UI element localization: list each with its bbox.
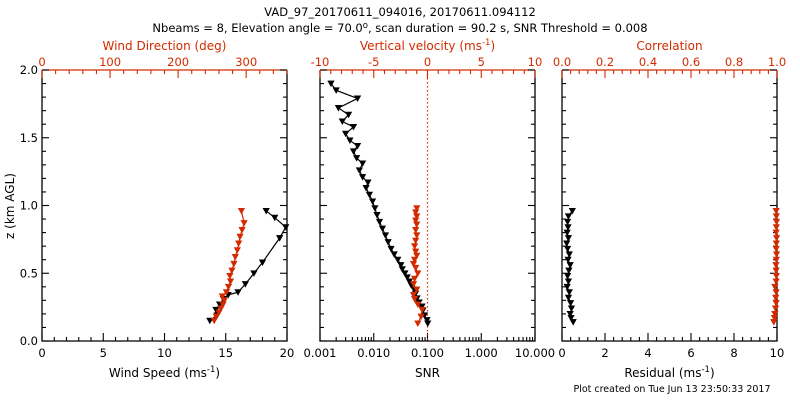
data-point-marker <box>343 131 349 137</box>
top-tick-label: 300 <box>235 55 257 69</box>
plot-timestamp-footer: Plot created on Tue Jun 13 23:50:33 2017 <box>573 384 770 395</box>
top-tick-label: 0.8 <box>725 55 743 69</box>
data-point-marker <box>232 254 238 260</box>
data-point-marker <box>567 262 573 268</box>
data-point-marker <box>354 96 360 102</box>
data-point-marker <box>363 185 369 191</box>
top-tick-label: 0.2 <box>596 55 614 69</box>
bottom-tick-label: 4 <box>644 346 651 360</box>
data-point-marker <box>418 314 424 320</box>
data-point-marker <box>241 220 247 226</box>
top-tick-label: 10 <box>528 55 543 69</box>
top-tick-label: 0 <box>38 55 45 69</box>
bottom-tick-label: 10.000 <box>515 346 555 360</box>
y-tick-label: 1.0 <box>20 199 38 213</box>
data-point-marker <box>237 234 243 240</box>
data-point-marker <box>565 225 571 231</box>
data-point-marker <box>366 192 372 198</box>
series-vertical-velocity <box>410 206 425 327</box>
data-point-marker <box>773 252 779 258</box>
bottom-tick-label: 0.001 <box>304 346 337 360</box>
top-tick-label: 5 <box>478 55 485 69</box>
data-point-marker <box>234 248 240 254</box>
bottom-tick-label: 0.010 <box>357 346 390 360</box>
data-point-marker <box>568 300 574 306</box>
series-wind-direction <box>211 208 247 323</box>
y-tick-label: 0.0 <box>20 334 38 348</box>
top-tick-label: 200 <box>167 55 189 69</box>
figure-title: VAD_97_20170611_094016, 20170611.094112 <box>264 5 536 19</box>
data-point-marker <box>566 290 572 296</box>
y-tick-label: 2.0 <box>20 63 38 77</box>
bottom-tick-label: 20 <box>280 346 295 360</box>
top-tick-label: 0.4 <box>639 55 657 69</box>
data-point-marker <box>564 246 570 252</box>
series-correlation <box>771 208 780 325</box>
top-tick-label: 1.0 <box>768 55 786 69</box>
data-point-marker <box>229 268 235 274</box>
data-point-marker <box>570 319 576 325</box>
data-point-marker <box>414 233 420 239</box>
data-point-marker <box>339 119 345 125</box>
bottom-tick-label: 0.100 <box>411 346 444 360</box>
data-point-marker <box>773 208 779 214</box>
data-point-marker <box>773 262 779 268</box>
data-point-marker <box>564 219 570 225</box>
data-point-marker <box>414 222 420 228</box>
panel-right: 0246810Residual (ms-1)0.00.20.40.60.81.0… <box>553 39 786 380</box>
data-point-marker <box>379 226 385 232</box>
data-point-marker <box>413 227 419 233</box>
data-point-marker <box>283 225 289 231</box>
top-axis-label: Correlation <box>636 39 702 53</box>
data-point-marker <box>415 271 421 277</box>
top-tick-label: -5 <box>368 55 379 69</box>
figure-subtitle: Nbeams = 8, Elevation angle = 70.0o, sca… <box>152 21 647 35</box>
data-point-marker <box>565 295 571 301</box>
data-point-marker <box>376 219 382 225</box>
top-axis-label: Wind Direction (deg) <box>103 39 227 53</box>
data-point-marker <box>773 290 779 296</box>
data-point-marker <box>227 273 233 279</box>
data-point-marker <box>413 238 419 244</box>
data-point-marker <box>772 306 778 312</box>
data-point-marker <box>395 257 401 263</box>
data-point-marker <box>238 208 244 214</box>
bottom-tick-label: 15 <box>218 346 233 360</box>
bottom-tick-label: 10 <box>157 346 172 360</box>
bottom-tick-label: 6 <box>687 346 694 360</box>
data-point-marker <box>412 244 418 250</box>
data-point-marker <box>568 306 574 312</box>
data-point-marker <box>773 241 779 247</box>
data-point-marker <box>773 268 779 274</box>
y-axis-label: z (km AGL) <box>3 173 17 239</box>
data-point-marker <box>359 161 365 167</box>
data-point-marker <box>773 246 779 252</box>
y-tick-label: 0.5 <box>20 266 38 280</box>
data-point-marker <box>369 199 375 205</box>
data-point-marker <box>382 233 388 239</box>
data-point-marker <box>565 235 571 241</box>
bottom-tick-label: 0 <box>38 346 45 360</box>
top-tick-label: 0 <box>424 55 431 69</box>
series-residual <box>564 208 577 325</box>
panel-middle: 0.0010.0100.1001.00010.000SNR-10-50510Ve… <box>304 38 556 380</box>
y-tick-label: 1.5 <box>20 131 38 145</box>
data-point-marker <box>333 88 339 94</box>
data-point-marker <box>391 252 397 258</box>
data-point-marker <box>773 235 779 241</box>
top-tick-label: 100 <box>99 55 121 69</box>
data-point-marker <box>773 300 779 306</box>
data-point-marker <box>356 168 362 174</box>
data-point-marker <box>350 149 356 155</box>
bottom-tick-label: 8 <box>730 346 737 360</box>
data-point-marker <box>565 279 571 285</box>
data-point-marker <box>385 239 391 245</box>
data-point-marker <box>773 273 779 279</box>
panel-frame <box>42 70 287 341</box>
data-point-marker <box>566 268 572 274</box>
bottom-tick-label: 2 <box>601 346 608 360</box>
panel-left: 0.00.51.01.52.005101520Wind Speed (ms-1)… <box>20 39 295 380</box>
data-point-marker <box>374 212 380 218</box>
bottom-axis-label: Wind Speed (ms-1) <box>109 365 220 380</box>
top-tick-label: -10 <box>311 55 330 69</box>
bottom-tick-label: 0 <box>558 346 565 360</box>
data-point-marker <box>227 279 233 285</box>
data-point-marker <box>239 227 245 233</box>
data-point-marker <box>564 273 570 279</box>
top-tick-label: 0.6 <box>682 55 700 69</box>
data-point-marker <box>225 284 231 290</box>
plot-figure: VAD_97_20170611_094016, 20170611.094112N… <box>0 0 800 400</box>
data-point-marker <box>773 225 779 231</box>
data-point-marker <box>565 214 571 220</box>
data-point-marker <box>365 180 371 186</box>
data-point-marker <box>236 241 242 247</box>
bottom-tick-label: 1.000 <box>465 346 498 360</box>
panel-frame <box>562 70 777 341</box>
top-tick-label: 0.0 <box>553 55 571 69</box>
data-point-marker <box>231 261 237 267</box>
bottom-tick-label: 5 <box>100 346 107 360</box>
data-point-marker <box>566 252 572 258</box>
data-point-marker <box>372 206 378 212</box>
bottom-axis-label: Residual (ms-1) <box>624 365 714 380</box>
bottom-tick-label: 10 <box>770 346 785 360</box>
data-point-marker <box>415 321 421 327</box>
data-point-marker <box>773 279 779 285</box>
bottom-axis-label: SNR <box>415 366 440 380</box>
vad-profile-figure: VAD_97_20170611_094016, 20170611.094112N… <box>0 0 800 400</box>
top-axis-label: Vertical velocity (ms-1) <box>360 38 495 53</box>
data-point-marker <box>773 295 779 301</box>
data-point-marker <box>773 214 779 220</box>
data-point-marker <box>771 319 777 325</box>
data-point-marker <box>773 219 779 225</box>
data-point-marker <box>564 241 570 247</box>
data-point-marker <box>388 246 394 252</box>
